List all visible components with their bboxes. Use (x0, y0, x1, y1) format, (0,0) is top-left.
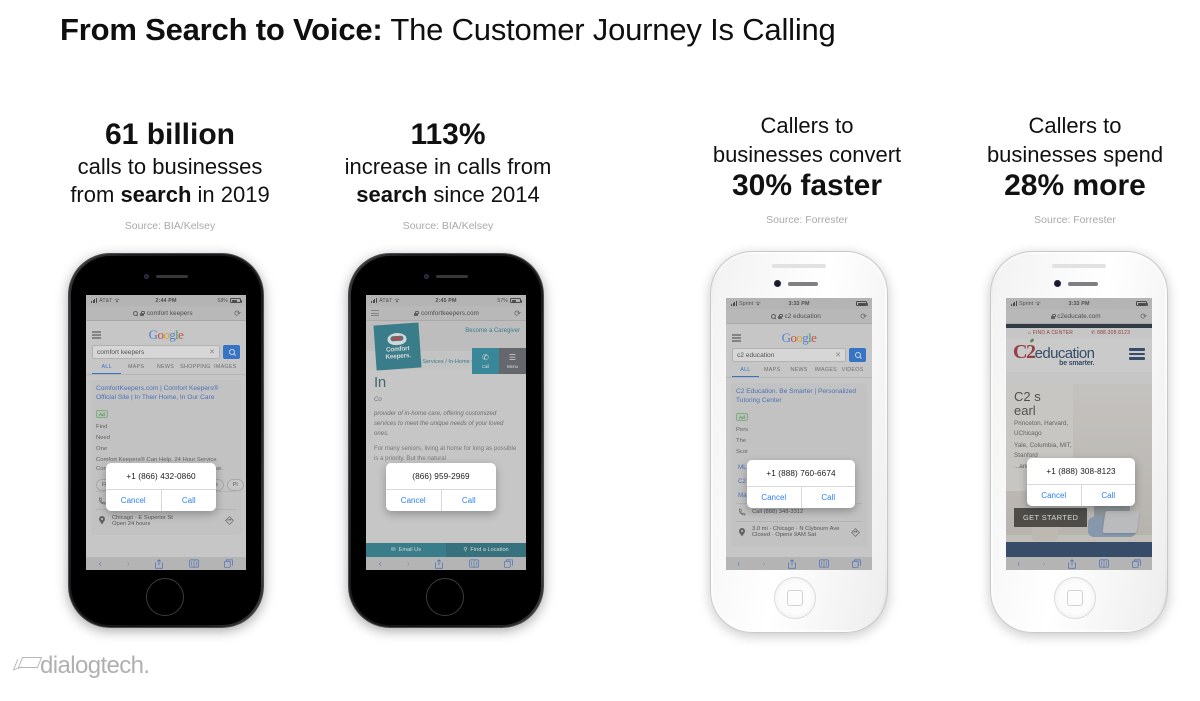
dialogtech-logo: dialogtech. (18, 652, 150, 680)
search-submit-button[interactable] (849, 348, 866, 362)
back-icon[interactable]: ‹ (379, 559, 382, 568)
battery-percent: 57% (497, 298, 508, 304)
logo-education-text: education (1035, 346, 1095, 361)
status-right (810, 301, 867, 306)
home-button[interactable] (774, 577, 816, 619)
search-magnifier-icon (855, 352, 861, 358)
wifi-icon (114, 298, 120, 303)
serp-header: Google (726, 324, 872, 348)
tabs-icon[interactable] (1132, 559, 1141, 568)
stat-4-value: 28% more (952, 169, 1198, 204)
stat-4-line-1: Callers to (952, 112, 1198, 141)
status-right: 57% (457, 298, 521, 304)
phone-icon: ✆ (482, 354, 489, 362)
ad-badge: Ad (736, 413, 748, 421)
hidden-line-2: The (736, 437, 862, 446)
home-button[interactable] (146, 578, 184, 616)
hero-line-1: Princeton, Harvard, UChicago (1014, 419, 1094, 439)
battery-icon (230, 298, 241, 303)
search-submit-button[interactable] (223, 345, 240, 359)
reload-icon[interactable]: ⟳ (1140, 312, 1147, 321)
menu-action-label: Menu (507, 364, 518, 369)
status-right (1090, 301, 1147, 306)
tab-videos[interactable]: VIDEOS (839, 367, 866, 377)
url-text: c2 education (785, 313, 821, 320)
second-paragraph: For many seniors, living at home for lon… (374, 444, 518, 464)
google-serp: Google c2 education ✕ ALL MAPS NEWS IMAG… (726, 324, 872, 570)
mail-icon: ✉ (391, 547, 396, 553)
front-camera-icon (144, 274, 149, 279)
front-camera-icon (1054, 280, 1061, 287)
stat-4-source: Source: Forrester (952, 214, 1198, 226)
signal-bars-icon (731, 301, 737, 306)
place-line-2: Open 24 hours (112, 521, 173, 527)
dialog-buttons: Cancel Call (106, 489, 216, 511)
status-left: AT&T (371, 298, 435, 304)
page-heading: In (374, 374, 518, 391)
url-center[interactable]: c2 education (731, 313, 860, 320)
share-icon[interactable] (1068, 559, 1076, 569)
clear-icon[interactable]: ✕ (835, 351, 841, 359)
c2-education-logo[interactable]: C2 education be smarter. (1013, 342, 1094, 367)
place-row[interactable]: 3.0 mi · Chicago · N Clybourn Ave Closed… (736, 521, 862, 543)
search-input[interactable]: comfort keepers ✕ (92, 345, 220, 359)
hamburger-menu-icon[interactable] (92, 331, 101, 338)
map-pin-icon (738, 528, 746, 537)
carrier-label: AT&T (99, 298, 112, 304)
url-center[interactable]: comfort keepers (91, 310, 234, 317)
dialog-buttons: Cancel Call (747, 486, 855, 508)
c2-education-page: ⌂ FIND A CENTER ✆ 888.308.8123 C2 educat… (1006, 324, 1152, 557)
status-time: 3:33 PM (788, 301, 809, 307)
battery-icon (510, 298, 521, 303)
forward-icon: › (763, 559, 766, 568)
google-logo: Google (741, 330, 857, 346)
stat-1-line-2c: in 2019 (191, 182, 269, 207)
tab-all[interactable]: ALL (92, 364, 121, 374)
top-grill (1052, 264, 1106, 268)
result-title[interactable]: ComfortKeepers.com | Comfort Keepers® Of… (96, 385, 236, 403)
menu-action-button[interactable]: ☰ Menu (499, 348, 526, 374)
dialog-phone-number: +1 (888) 760-6674 (747, 460, 855, 486)
reader-menu-icon[interactable] (371, 310, 379, 315)
phone-icon (738, 508, 746, 516)
serp-header: Google (86, 321, 246, 345)
chip-more[interactable]: Pl (227, 479, 244, 491)
dialog-buttons: Cancel Call (386, 489, 496, 511)
header-actions: ✆ Call ☰ Menu (472, 348, 526, 374)
call-confirm-dialog[interactable]: +1 (888) 308-8123 Cancel Call (1027, 458, 1135, 506)
intro-paragraph: provider of in-home care, offering custo… (374, 409, 518, 439)
stat-3-line-2: businesses convert (672, 141, 942, 170)
search-query-text: comfort keepers (97, 349, 144, 356)
hidden-line-3: One (96, 445, 236, 454)
stat-1-line-2a: from (70, 182, 120, 207)
place-text: Chicago · E Superior St Open 24 hours (112, 515, 173, 527)
top-grill (772, 264, 826, 268)
lock-icon (140, 311, 144, 316)
status-time: 2:45 PM (435, 298, 456, 304)
serp-tabs: ALL MAPS NEWS IMAGES VIDEOS (726, 362, 872, 378)
directions-icon[interactable] (225, 516, 234, 525)
safari-url-bar[interactable]: comfortkeepers.com ⟳ (366, 306, 526, 321)
stat-block-3: Callers to businesses convert 30% faster… (672, 112, 942, 226)
header-phone-number: 888.308.8123 (1097, 330, 1130, 336)
directions-icon[interactable] (851, 528, 860, 537)
status-bar: AT&T 2:44 PM 58% (86, 295, 246, 306)
find-location-label: Find a Location (470, 547, 508, 553)
dialog-phone-number: (866) 959-2969 (386, 463, 496, 489)
search-icon (771, 314, 776, 319)
email-us-label: Email Us (399, 547, 421, 553)
status-time: 3:33 PM (1068, 301, 1089, 307)
signal-bars-icon (91, 298, 97, 303)
stat-block-2: 113% increase in calls from search since… (300, 118, 596, 232)
reload-icon[interactable]: ⟳ (514, 309, 521, 318)
logo-mark-icon (387, 332, 407, 345)
call-confirm-dialog[interactable]: +1 (866) 432-0860 Cancel Call (106, 463, 216, 511)
dialog-phone-number: +1 (866) 432-0860 (106, 463, 216, 489)
stat-1-line-2: from search in 2019 (22, 181, 318, 210)
dialogtech-mark-icon (18, 655, 44, 677)
logo-c2-text: C2 (1013, 342, 1035, 362)
earpiece-speaker-icon (788, 282, 818, 286)
serp-tabs: ALL MAPS NEWS SHOPPING IMAGES (86, 359, 246, 375)
status-bar: AT&T 2:45 PM 57% (366, 295, 526, 306)
call-button[interactable]: Call (802, 487, 856, 508)
carrier-label: AT&T (379, 298, 392, 304)
search-result-card[interactable]: ComfortKeepers.com | Comfort Keepers® Of… (91, 380, 241, 535)
back-icon[interactable]: ‹ (99, 559, 102, 568)
signal-bars-icon (371, 298, 377, 303)
earpiece-speaker-icon (156, 275, 188, 278)
forward-icon: › (127, 559, 130, 568)
slide-canvas: From Search to Voice: The Customer Journ… (0, 0, 1200, 701)
hero-heading-1: C2 s (1014, 390, 1094, 404)
url-center[interactable]: c2educate.com (1011, 313, 1140, 320)
search-row: comfort keepers ✕ (86, 345, 246, 359)
safari-toolbar: ‹ › (726, 557, 872, 570)
phone-2-screen: AT&T 2:45 PM 57% comfortkeepers.com ⟳ (366, 295, 526, 570)
get-started-button[interactable]: GET STARTED (1014, 508, 1087, 527)
safari-toolbar: ‹ › (86, 557, 246, 570)
earpiece-speaker-icon (1068, 282, 1098, 286)
google-serp: Google comfort keepers ✕ ALL MAPS NEWS S… (86, 321, 246, 570)
signal-bars-icon (1011, 301, 1017, 306)
status-bar: Sprint 3:33 PM (1006, 298, 1152, 309)
call-button[interactable]: Call (442, 490, 497, 511)
hidden-line-1: Find (96, 423, 236, 432)
call-confirm-dialog[interactable]: (866) 959-2969 Cancel Call (386, 463, 496, 511)
call-row-label: Call (888) 348-3312 (752, 509, 803, 515)
search-icon (133, 311, 138, 316)
carrier-label: Sprint (739, 301, 753, 307)
tab-maps[interactable]: MAPS (759, 367, 786, 377)
front-camera-icon (774, 280, 781, 287)
hamburger-menu-icon[interactable] (1129, 348, 1145, 359)
page-title-bold: From Search to Voice: (60, 12, 383, 47)
bookmarks-icon[interactable] (469, 559, 479, 568)
laptop-icon (1102, 511, 1139, 533)
brand-line-2: Keepers. (385, 353, 411, 361)
email-us-button[interactable]: ✉ Email Us (366, 543, 446, 557)
site-header: C2 education be smarter. (1006, 339, 1152, 372)
map-pin-icon: ⚲ (463, 547, 467, 553)
back-icon[interactable]: ‹ (737, 559, 740, 568)
stat-2-line-2c: since 2014 (427, 182, 540, 207)
home-button[interactable] (1054, 577, 1096, 619)
stat-1-source: Source: BIA/Kelsey (22, 220, 318, 232)
hero-heading-2: earl (1014, 404, 1094, 418)
stat-1-value: 61 billion (22, 118, 318, 153)
call-action-button[interactable]: ✆ Call (472, 348, 499, 374)
site-footer-bar: ✉ Email Us ⚲ Find a Location (366, 543, 526, 557)
forward-icon: › (1043, 559, 1046, 568)
front-camera-icon (424, 274, 429, 279)
tabs-icon[interactable] (504, 559, 513, 568)
become-caregiver-link[interactable]: Become a Caregiver (465, 328, 520, 334)
wifi-icon (394, 298, 400, 303)
place-text: 3.0 mi · Chicago · N Clybourn Ave Closed… (752, 526, 840, 538)
tab-images[interactable]: IMAGES (812, 367, 839, 377)
find-a-center-label: FIND A CENTER (1033, 330, 1073, 336)
stat-1-line-2b: search (120, 182, 191, 207)
tab-all[interactable]: ALL (732, 367, 759, 377)
status-bar: Sprint 3:33 PM (726, 298, 872, 309)
bookmarks-icon[interactable] (819, 559, 829, 568)
site-header: Comfort Keepers. Become a Caregiver ✆ Ca… (366, 321, 526, 351)
find-a-center-link[interactable]: ⌂ FIND A CENTER (1028, 330, 1073, 336)
phone-c2-education-site: Sprint 3:33 PM c2educate.com ⟳ ⌂ FIND (990, 251, 1168, 633)
google-logo: Google (101, 327, 231, 343)
forward-icon: › (407, 559, 410, 568)
status-left: Sprint (731, 301, 788, 307)
tab-news[interactable]: NEWS (786, 367, 813, 377)
tab-news[interactable]: NEWS (151, 364, 180, 374)
hamburger-menu-icon[interactable] (732, 334, 741, 341)
page-title: From Search to Voice: The Customer Journ… (60, 12, 836, 48)
place-row[interactable]: Chicago · E Superior St Open 24 hours (96, 509, 236, 531)
url-text: c2educate.com (1057, 313, 1100, 320)
wifi-icon (755, 301, 761, 306)
bookmarks-icon[interactable] (1099, 559, 1109, 568)
stat-block-1: 61 billion calls to businesses from sear… (22, 118, 318, 232)
call-button[interactable]: Call (162, 490, 217, 511)
stat-3-line-1: Callers to (672, 112, 942, 141)
phone-icon (98, 497, 106, 505)
call-button[interactable]: Call (1082, 485, 1136, 506)
utility-nav: ⌂ FIND A CENTER ✆ 888.308.8123 (1006, 328, 1152, 339)
map-pin-icon (98, 516, 106, 525)
call-action-label: Call (482, 364, 490, 369)
back-icon[interactable]: ‹ (1017, 559, 1020, 568)
comfort-keepers-logo[interactable]: Comfort Keepers. (373, 322, 421, 370)
lock-icon (778, 314, 782, 319)
dialog-buttons: Cancel Call (1027, 484, 1135, 506)
call-confirm-dialog[interactable]: +1 (888) 760-6674 Cancel Call (747, 460, 855, 508)
logo-tagline: be smarter. (1059, 360, 1094, 367)
page-body: In Co provider of in-home care, offering… (366, 370, 526, 464)
share-icon[interactable] (155, 559, 163, 569)
share-icon[interactable] (435, 559, 443, 569)
stat-2-source: Source: BIA/Kelsey (300, 220, 596, 232)
cancel-button[interactable]: Cancel (747, 487, 802, 508)
reload-icon[interactable]: ⟳ (234, 309, 241, 318)
carrier-label: Sprint (1019, 301, 1033, 307)
comfort-keepers-page: Comfort Keepers. Become a Caregiver ✆ Ca… (366, 321, 526, 557)
stat-3-source: Source: Forrester (672, 214, 942, 226)
site-footer-bar (1006, 542, 1152, 557)
safari-url-bar[interactable]: c2educate.com ⟳ (1006, 309, 1152, 324)
lock-icon (414, 311, 418, 316)
home-square-icon (1067, 590, 1083, 606)
stat-2-line-2: search since 2014 (300, 181, 596, 210)
search-row: c2 education ✕ (726, 348, 872, 362)
battery-icon (856, 301, 867, 306)
tabs-icon[interactable] (852, 559, 861, 568)
lock-icon (1051, 314, 1055, 319)
phone-3-screen: Sprint 3:33 PM c2 education ⟳ (726, 298, 872, 570)
status-right: 58% (177, 298, 241, 304)
reload-icon[interactable]: ⟳ (860, 312, 867, 321)
dialog-phone-number: +1 (888) 308-8123 (1027, 458, 1135, 484)
stat-2-line-1: increase in calls from (300, 153, 596, 182)
hidden-line-2: Need (96, 434, 236, 443)
phone-1-screen: AT&T 2:44 PM 58% comfort keepers ⟳ (86, 295, 246, 570)
share-icon[interactable] (788, 559, 796, 569)
intro-prefix: Co (374, 395, 518, 405)
tab-shopping[interactable]: SHOPPING (180, 364, 210, 374)
url-text: comfort keepers (147, 310, 193, 317)
place-line-2: Closed · Opens 9AM Sat (752, 532, 840, 538)
search-magnifier-icon (229, 349, 235, 355)
url-text: comfortkeepers.com (421, 310, 479, 317)
hidden-line-1: Pers (736, 426, 862, 435)
status-time: 2:44 PM (155, 298, 176, 304)
safari-url-bar[interactable]: c2 education ⟳ (726, 309, 872, 324)
wifi-icon (1035, 301, 1041, 306)
safari-url-bar[interactable]: comfort keepers ⟳ (86, 306, 246, 321)
dialogtech-dot: . (143, 652, 149, 679)
stat-1-line-1: calls to businesses (22, 153, 318, 182)
stat-block-4: Callers to businesses spend 28% more Sou… (952, 112, 1198, 226)
tabs-icon[interactable] (224, 559, 233, 568)
search-input[interactable]: c2 education ✕ (732, 348, 846, 362)
stat-4-line-2: businesses spend (952, 141, 1198, 170)
status-left: Sprint (1011, 301, 1068, 307)
home-square-icon (787, 590, 803, 606)
phone-comfort-keepers-search: AT&T 2:44 PM 58% comfort keepers ⟳ (68, 253, 264, 628)
battery-percent: 58% (217, 298, 228, 304)
tab-images[interactable]: IMAGES (211, 364, 240, 374)
battery-icon (1136, 301, 1147, 306)
clear-icon[interactable]: ✕ (209, 348, 215, 356)
cancel-button[interactable]: Cancel (106, 490, 162, 511)
safari-toolbar: ‹ › (366, 557, 526, 570)
header-phone-link[interactable]: ✆ 888.308.8123 (1091, 330, 1130, 336)
phone-c2-education-search: Sprint 3:33 PM c2 education ⟳ (710, 251, 888, 633)
stat-3-value: 30% faster (672, 169, 942, 204)
page-title-rest: The Customer Journey Is Calling (383, 12, 836, 47)
safari-toolbar: ‹ › (1006, 557, 1152, 570)
status-left: AT&T (91, 298, 155, 304)
dialogtech-text: dialogtech (40, 652, 143, 679)
earpiece-speaker-icon (436, 275, 468, 278)
result-title[interactable]: C2 Education. Be Smarter | Personalized … (736, 388, 862, 406)
find-location-button[interactable]: ⚲ Find a Location (446, 543, 526, 557)
phone-comfort-keepers-site: AT&T 2:45 PM 57% comfortkeepers.com ⟳ (348, 253, 544, 628)
tab-maps[interactable]: MAPS (121, 364, 150, 374)
stat-2-line-2b: search (356, 182, 427, 207)
phone-4-screen: Sprint 3:33 PM c2educate.com ⟳ ⌂ FIND (1006, 298, 1152, 570)
stat-2-value: 113% (300, 118, 596, 153)
dialogtech-wordmark: dialogtech. (40, 652, 150, 680)
hamburger-icon: ☰ (509, 354, 516, 362)
cancel-button[interactable]: Cancel (1027, 485, 1082, 506)
ad-badge: Ad (96, 410, 108, 418)
search-query-text: c2 education (737, 352, 774, 359)
hidden-line-3: Scor (736, 448, 862, 457)
url-center[interactable]: comfortkeepers.com (379, 310, 514, 317)
home-button[interactable] (426, 578, 464, 616)
bookmarks-icon[interactable] (189, 559, 199, 568)
cancel-button[interactable]: Cancel (386, 490, 442, 511)
